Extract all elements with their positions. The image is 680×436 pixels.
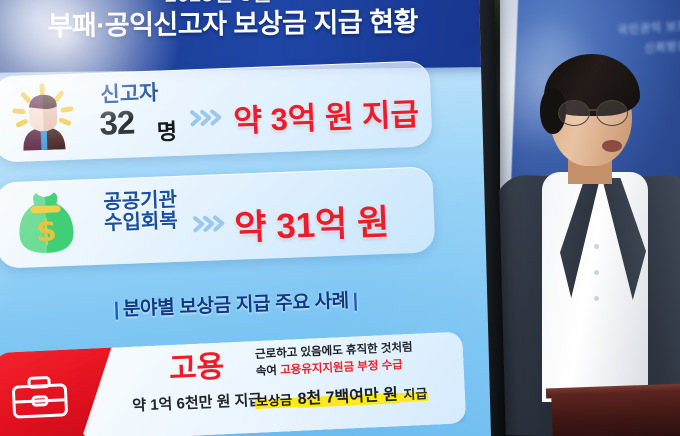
briefcase-icon — [10, 374, 70, 421]
stat-amount-revenue-recovery: 약 31억 원 — [233, 194, 390, 251]
case-reward-prefix: 보상금 — [255, 392, 297, 409]
stat-label-line2: 수입회복 — [104, 211, 178, 234]
stat-number-reporters: 32 — [99, 105, 135, 139]
chevron-right-icon — [189, 108, 224, 127]
case-category: 고용 — [133, 351, 260, 387]
stat-amount-reporters: 약 3억 원 지급 — [233, 89, 420, 141]
svg-text:$: $ — [35, 213, 57, 249]
screenshot-stage: 국민권익 보호 신뢰받는 2025년 8월 부패·공익신고자 보상금 지급 현황 — [0, 0, 680, 436]
whistleblower-person-icon — [6, 82, 81, 155]
slide-header-band: 2025년 8월 부패·공익신고자 보상금 지급 현황 — [0, 0, 491, 73]
stat-label-revenue-recovery: 공공기관 수입회복 — [103, 190, 178, 234]
case-reward-amount: 8천 7백여만 원 — [296, 386, 399, 408]
stat-unit-reporters: 명 — [156, 114, 177, 147]
case-row-employment[interactable]: 고용 약 1억 6천만 원 지급 근로하고 있음에도 휴직한 것처럼 속여 고용… — [0, 331, 467, 436]
mouth — [602, 140, 622, 152]
section-title-text: 분야별 보상금 지급 주요 사례 — [123, 291, 350, 320]
stat-card-reporters[interactable]: 신고자 32 명 약 3억 원 지급 — [0, 60, 433, 162]
eyeglasses-icon — [558, 100, 634, 124]
section-title: |분야별 보상금 지급 주요 사례| — [0, 281, 488, 327]
speaker-photo — [498, 44, 680, 436]
chevron-right-icon — [192, 214, 227, 233]
case-desc-red: 고용유지지원금 부정 수급 — [280, 359, 403, 377]
case-reward-suffix: 지급 — [399, 386, 429, 402]
section-bar-right: | — [348, 290, 362, 311]
money-bag-icon: $ — [9, 188, 84, 261]
slide-title: 부패·공익신고자 보상금 지급 현황 — [0, 0, 491, 44]
presentation-screen: 2025년 8월 부패·공익신고자 보상금 지급 현황 — [0, 0, 491, 436]
stat-card-revenue-recovery[interactable]: $ 공공기관 수입회복 약 31억 원 — [0, 166, 435, 268]
podium — [551, 390, 680, 436]
case-desc-plain: 속여 — [256, 365, 281, 378]
shirt-buttons — [594, 244, 599, 249]
